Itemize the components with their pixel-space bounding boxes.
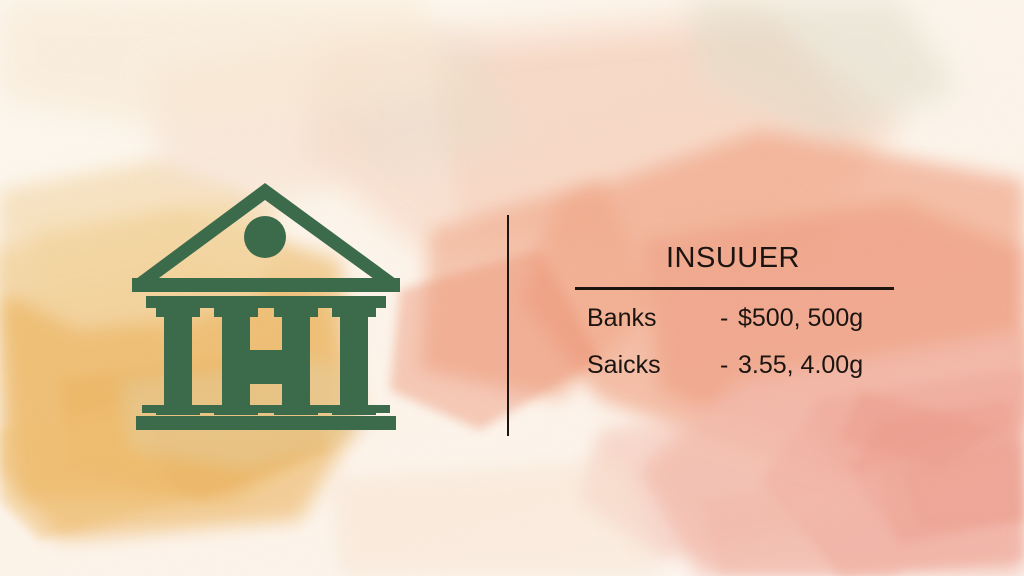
panel-title: INSUUER (575, 243, 897, 275)
bank-building-icon (128, 178, 404, 430)
detail-row-bullet: - (720, 306, 738, 331)
detail-row: Saicks - 3.55, 4.00g (587, 353, 897, 378)
detail-row-bullet: - (720, 353, 738, 378)
title-underline (575, 287, 894, 290)
detail-rows: Banks - $500, 500g Saicks - 3.55, 4.00g (575, 306, 897, 378)
detail-row: Banks - $500, 500g (587, 306, 897, 331)
detail-row-label: Saicks (587, 353, 720, 378)
info-panel: INSUUER Banks - $500, 500g Saicks - 3.55… (575, 243, 897, 378)
detail-row-value: 3.55, 4.00g (738, 353, 863, 378)
detail-row-value: $500, 500g (738, 306, 863, 331)
vertical-divider (507, 215, 509, 436)
slide-canvas: INSUUER Banks - $500, 500g Saicks - 3.55… (0, 0, 1024, 576)
detail-row-label: Banks (587, 306, 720, 331)
